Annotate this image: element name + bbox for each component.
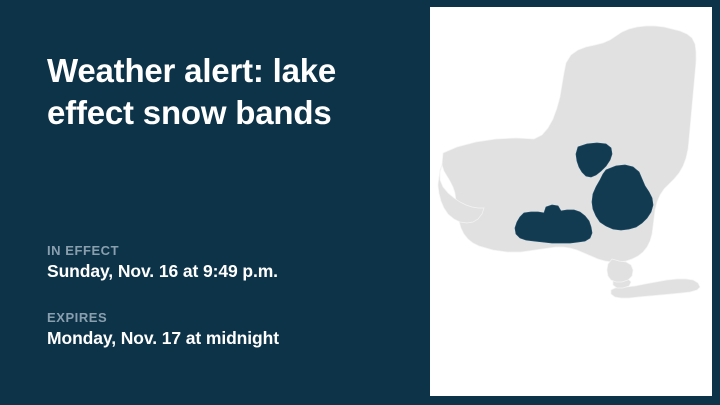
in-effect-label: IN EFFECT [47, 243, 417, 259]
in-effect-value: Sunday, Nov. 16 at 9:49 p.m. [47, 260, 417, 283]
map-base-counties [438, 26, 700, 298]
page-title: Weather alert: lake effect snow bands [47, 50, 417, 134]
weather-alert-graphic: Weather alert: lake effect snow bands IN… [0, 0, 720, 405]
expires-label: EXPIRES [47, 310, 417, 326]
alert-text-column: Weather alert: lake effect snow bands IN… [0, 0, 430, 405]
in-effect-block: IN EFFECT Sunday, Nov. 16 at 9:49 p.m. [47, 243, 417, 283]
map-panel [430, 7, 712, 396]
new-york-state-map [430, 7, 712, 396]
expires-value: Monday, Nov. 17 at midnight [47, 327, 417, 350]
expires-block: EXPIRES Monday, Nov. 17 at midnight [47, 310, 417, 350]
